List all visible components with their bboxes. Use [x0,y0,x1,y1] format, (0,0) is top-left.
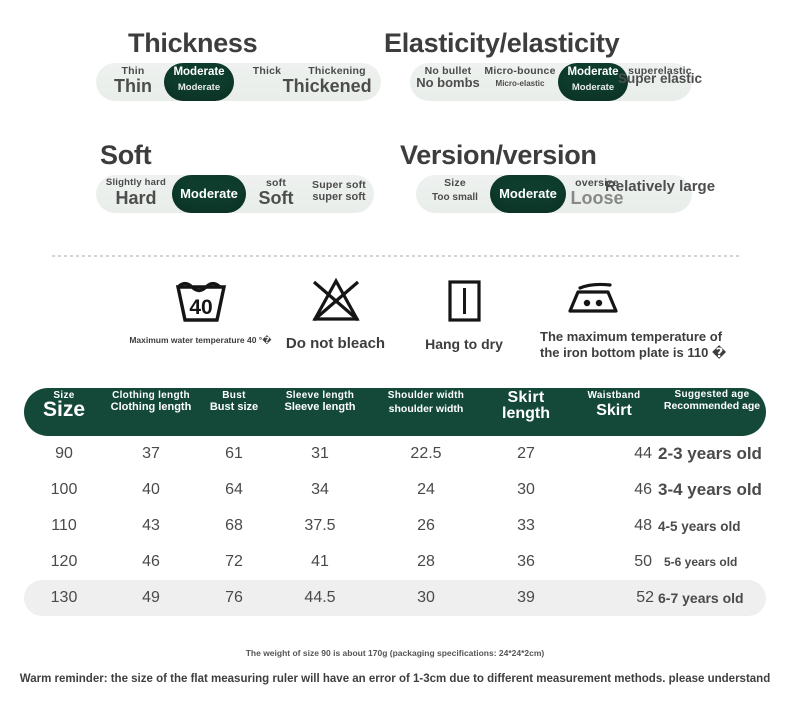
table-row: 110 43 68 37.5 26 33 48 4-5 years old [24,508,766,544]
col-skirt-length: Skirt length [482,388,570,436]
segment-bottom-label: Soft [259,189,294,207]
cell-waistband: 44 [570,436,658,472]
cell-waistband: 50 [570,544,658,580]
weight-note: The weight of size 90 is about 170g (pac… [0,648,790,658]
cell-bust: 68 [198,508,270,544]
col-top-label: Shoulder width [370,390,482,401]
do-not-bleach-icon [307,275,365,327]
table-row: 90 37 61 31 22.5 27 44 2-3 years old [24,436,766,472]
cell-skirt-length: 33 [482,508,570,544]
table-row: 100 40 64 34 24 30 46 3-4 years old [24,472,766,508]
col-bottom-label: length [482,406,570,423]
cell-size: 120 [24,544,104,580]
cell-shoulder-width: 22.5 [370,436,482,472]
attribute-title: Thickness [128,28,381,59]
cell-shoulder-width: 24 [370,472,482,508]
segment-relatively-large[interactable]: Relatively large [628,175,692,213]
col-top-label: Skirt [482,389,570,407]
segment-no-bullet[interactable]: No bullet No bombs [414,63,482,101]
attribute-track-version: Size Too small Moderate oversize Loose R… [416,175,692,213]
segment-moderate-selected[interactable]: Moderate [490,175,566,213]
segment-bottom-label: Thickened [283,77,372,95]
care-caption: Hang to dry [400,336,528,354]
segment-micro-bounce[interactable]: Micro-bounce Micro-elastic [482,63,558,101]
cell-sleeve-length: 41 [270,544,370,580]
table-row: 130 49 76 44.5 30 39 52 6-7 years old [24,580,766,616]
cell-waistband: 46 [570,472,658,508]
care-caption: The maximum temperature of the iron bott… [540,329,745,362]
segment-label: Moderate [180,186,238,201]
segment-super-soft[interactable]: Super soft super soft [304,175,374,213]
cell-size: 130 [24,580,104,616]
cell-bust: 61 [198,436,270,472]
cell-age: 3-4 years old [658,472,766,508]
col-bottom-label: Size [24,399,104,421]
segment-superelastic[interactable]: superelastic Super elastic [628,63,692,101]
wash-tub-40-icon: 40 [170,275,232,325]
attribute-block-soft: Soft Slightly hard Hard Moderate soft So… [96,140,374,213]
care-item-wash: 40 Maximum water temperature 40 °� [118,275,283,346]
segment-bottom-label: Micro-elastic [496,80,545,88]
segment-bottom-label: super soft [312,192,365,203]
segment-thickening[interactable]: Thickening Thickened [296,63,378,101]
cell-clothing-length: 37 [104,436,198,472]
attribute-block-version: Version/version Size Too small Moderate … [416,140,692,213]
segment-label: Moderate [499,186,557,201]
segment-thin[interactable]: Thin Thin [102,63,164,101]
cell-sleeve-length: 44.5 [270,580,370,616]
segment-top-label: Thick [253,65,281,77]
cell-size: 90 [24,436,104,472]
cell-age: 4-5 years old [658,508,766,544]
col-bottom-label: Sleeve length [270,401,370,414]
segment-slightly-hard[interactable]: Slightly hard Hard [100,175,172,213]
segment-too-small[interactable]: Size Too small [420,175,490,213]
iron-two-dots-icon [562,275,624,321]
warm-reminder: Warm reminder: the size of the flat meas… [0,673,790,685]
attribute-block-elasticity: Elasticity/elasticity No bullet No bombs… [410,28,692,101]
cell-age: 2-3 years old [658,436,766,472]
segment-bottom-label: Relatively large [605,179,715,194]
cell-clothing-length: 49 [104,580,198,616]
cell-waistband: 52 [570,580,658,616]
segment-top-label: Micro-bounce [484,65,555,77]
segment-soft[interactable]: soft Soft [248,175,304,213]
col-suggested-age: Suggested age Recommended age [658,388,766,436]
cell-bust: 64 [198,472,270,508]
segment-top-label: Size [444,177,466,189]
cell-clothing-length: 43 [104,508,198,544]
cell-skirt-length: 27 [482,436,570,472]
cell-sleeve-length: 37.5 [270,508,370,544]
table-row: 120 46 72 41 28 36 50 5-6 years old [24,544,766,580]
col-top-label: Sleeve length [270,390,370,401]
attribute-title: Version/version [400,140,692,171]
cell-skirt-length: 30 [482,472,570,508]
section-divider [52,255,740,257]
segment-bottom-label: Too small [432,193,478,203]
col-top-label: Suggested age [658,389,766,400]
col-clothing-length: Clothing length Clothing length [104,388,198,436]
segment-bottom-label: Moderate [572,82,614,93]
cell-sleeve-length: 34 [270,472,370,508]
col-bust: Bust Bust size [198,388,270,436]
attribute-title: Soft [100,140,374,171]
cell-clothing-length: 46 [104,544,198,580]
col-bottom-label: Skirt [570,403,658,420]
col-bottom-label: shoulder width [370,403,482,415]
care-caption: Maximum water temperature 40 °� [118,335,283,346]
col-sleeve-length: Sleeve length Sleeve length [270,388,370,436]
cell-skirt-length: 36 [482,544,570,580]
col-shoulder-width: Shoulder width shoulder width [370,388,482,436]
cell-size: 110 [24,508,104,544]
attribute-title: Elasticity/elasticity [384,28,692,59]
cell-sleeve-length: 31 [270,436,370,472]
segment-bottom-label: Moderate [178,82,220,93]
attribute-track-elasticity: No bullet No bombs Micro-bounce Micro-el… [410,63,692,101]
cell-bust: 72 [198,544,270,580]
table-body: 90 37 61 31 22.5 27 44 2-3 years old 100… [24,436,766,616]
cell-shoulder-width: 26 [370,508,482,544]
segment-moderate-selected[interactable]: Moderate [172,175,246,213]
segment-bottom-label: Hard [115,189,156,207]
cell-age: 5-6 years old [658,544,766,580]
cell-waistband: 48 [570,508,658,544]
segment-moderate-selected[interactable]: Moderate Moderate [164,63,234,101]
col-bottom-label: Bust size [198,401,270,414]
col-top-label: Clothing length [104,390,198,401]
attribute-track-soft: Slightly hard Hard Moderate soft Soft Su… [96,175,374,213]
col-bottom-label: Clothing length [104,401,198,414]
col-size: Size Size [24,388,104,436]
segment-bottom-label: Super elastic [618,72,702,86]
segment-bottom-label: Thin [114,77,152,95]
cell-size: 100 [24,472,104,508]
cell-shoulder-width: 30 [370,580,482,616]
hang-to-dry-icon [441,275,487,327]
care-item-dry: Hang to dry [400,275,528,354]
cell-bust: 76 [198,580,270,616]
segment-top-label: Moderate [173,66,224,78]
care-item-iron: The maximum temperature of the iron bott… [540,275,780,362]
segment-top-label: Moderate [567,66,618,78]
segment-top-label: Slightly hard [106,177,166,188]
col-bottom-label: Recommended age [658,400,766,412]
cell-skirt-length: 39 [482,580,570,616]
attribute-track-thickness: Thin Thin Moderate Moderate Thick Thicke… [96,63,381,101]
care-item-bleach: Do not bleach [268,275,403,354]
cell-age: 6-7 years old [658,580,766,616]
col-top-label: Waistband [570,390,658,401]
attribute-block-thickness: Thickness Thin Thin Moderate Moderate Th… [96,28,381,101]
table-header-row: Size Size Clothing length Clothing lengt… [24,388,766,436]
size-table: Size Size Clothing length Clothing lengt… [24,388,766,616]
segment-top-label: Super soft [312,179,366,191]
col-top-label: Bust [198,390,270,401]
cell-shoulder-width: 28 [370,544,482,580]
care-caption: Do not bleach [268,335,403,354]
cell-clothing-length: 40 [104,472,198,508]
svg-text:40: 40 [189,296,212,319]
table-header: Size Size Clothing length Clothing lengt… [24,388,766,436]
care-instructions: 40 Maximum water temperature 40 °� Do no… [0,275,790,370]
col-waistband: Waistband Skirt [570,388,658,436]
segment-bottom-label: No bombs [416,76,480,89]
